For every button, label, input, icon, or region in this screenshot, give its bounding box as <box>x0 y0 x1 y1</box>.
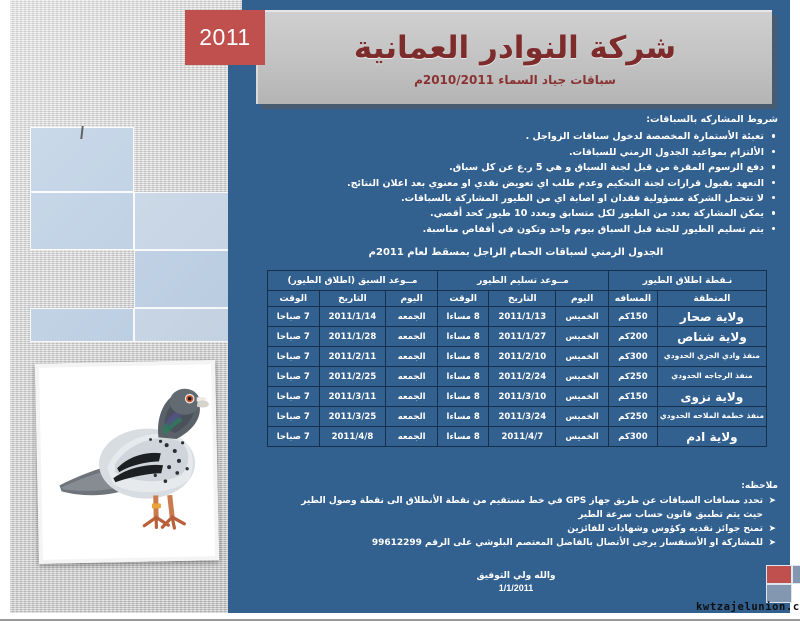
decorative-square <box>134 192 242 250</box>
table-row: منفذ الرجاجه الحدودي 250كم الخميس 2011/2… <box>268 367 767 387</box>
logo-square-red <box>766 565 792 584</box>
col-race-date: التاريخ <box>319 291 386 307</box>
cell-deliver-time: 8 مساءا <box>437 327 488 347</box>
cell-race-date: 2011/4/8 <box>319 427 386 447</box>
cell-race-time: 7 صباحا <box>268 307 320 327</box>
year-badge: 2011 <box>185 10 265 65</box>
table-row: ولاية شناص 200كم الخميس 2011/1/27 8 مساء… <box>268 327 767 347</box>
decorative-square <box>30 192 134 250</box>
cell-race-time: 7 صباحا <box>268 327 320 347</box>
cell-race-date: 2011/3/11 <box>319 387 386 407</box>
cell-region: ولاية نزوى <box>657 387 766 407</box>
cell-distance: 300كم <box>609 347 658 367</box>
conditions-heading: شروط المشاركه بالسباقات: <box>256 112 778 127</box>
cell-deliver-time: 8 مساءا <box>437 407 488 427</box>
bullet-dot-icon <box>772 150 776 154</box>
cell-race-date: 2011/1/28 <box>319 327 386 347</box>
condition-item: الألتزام بمواعيد الجدول الزمني للسباقات. <box>256 145 778 160</box>
footer-block: والله ولي التوفيق 1/1/2011 <box>242 570 790 594</box>
cell-race-day: الجمعه <box>386 407 438 427</box>
cell-deliver-time: 8 مساءا <box>437 427 488 447</box>
watermark-text: kwtzajelunion.co <box>696 601 800 613</box>
note-item: ➤تحدد مسافات السباقات عن طريق جهاز GPS ف… <box>254 495 778 509</box>
cell-deliver-day: الخميس <box>556 387 609 407</box>
cell-region: ولاية شناص <box>657 327 766 347</box>
table-row: ولاية ادم 300كم الخميس 2011/4/7 8 مساءا … <box>268 427 767 447</box>
cell-distance: 250كم <box>609 367 658 387</box>
condition-item: يمكن المشاركة بعدد من الطيور لكل متسابق … <box>256 206 778 221</box>
chevron-right-icon: ➤ <box>768 537 776 551</box>
table-row: ولاية نزوى 150كم الخميس 2011/3/10 8 مساء… <box>268 387 767 407</box>
cell-race-day: الجمعه <box>386 327 438 347</box>
cell-deliver-date: 2011/3/10 <box>489 387 556 407</box>
note-item: ➤للمشاركة او الأستفسار يرجى الأتصال بالف… <box>254 537 778 551</box>
table-head: نـقطة اطلاق الطيور مــوعد تسليم الطيور م… <box>268 271 767 307</box>
col-region: المنطقة <box>657 291 766 307</box>
chevron-right-icon: ➤ <box>768 523 776 537</box>
note-item: ➤تمنح جوائز نقديه وكؤوس وشهادات للفائزين <box>254 523 778 537</box>
table-row: ولاية صحار 150كم الخميس 2011/1/13 8 مساء… <box>268 307 767 327</box>
title-banner: شركة النوادر العمانية سباقات جياد السماء… <box>256 10 772 104</box>
col-deliver-date: التاريخ <box>489 291 556 307</box>
cell-deliver-day: الخميس <box>556 347 609 367</box>
bullet-dot-icon <box>772 165 776 169</box>
cell-deliver-date: 2011/1/13 <box>489 307 556 327</box>
cell-deliver-time: 8 مساءا <box>437 387 488 407</box>
cell-region: منفذ وادي الجزي الحدودي <box>657 347 766 367</box>
cell-deliver-date: 2011/3/24 <box>489 407 556 427</box>
footer-date: 1/1/2011 <box>242 582 790 594</box>
group-header-deliver: مــوعد تسليم الطيور <box>437 271 608 291</box>
cell-race-day: الجمعه <box>386 307 438 327</box>
cell-deliver-time: 8 مساءا <box>437 347 488 367</box>
bullet-dot-icon <box>772 227 776 231</box>
cell-deliver-time: 8 مساءا <box>437 307 488 327</box>
decorative-square <box>134 250 242 308</box>
notes-block: ملاحظه: ➤تحدد مسافات السباقات عن طريق جه… <box>254 480 778 551</box>
notes-list-2: ➤تمنح جوائز نقديه وكؤوس وشهادات للفائزين… <box>254 523 778 551</box>
chevron-right-icon: ➤ <box>768 495 776 509</box>
cell-region: منفذ الرجاجه الحدودي <box>657 367 766 387</box>
cell-region: منفذ خطمة الملاحه الحدودي <box>657 407 766 427</box>
table-sub-header-row: المنطقة المسافه اليوم التاريخ الوقت اليو… <box>268 291 767 307</box>
decorative-square <box>30 308 134 342</box>
table-row: منفذ وادي الجزي الحدودي 300كم الخميس 201… <box>268 347 767 367</box>
cell-distance: 150كم <box>609 387 658 407</box>
cell-deliver-date: 2011/2/24 <box>489 367 556 387</box>
cell-deliver-date: 2011/1/27 <box>489 327 556 347</box>
col-race-time: الوقت <box>268 291 320 307</box>
col-race-day: اليوم <box>386 291 438 307</box>
schedule-table: نـقطة اطلاق الطيور مــوعد تسليم الطيور م… <box>267 270 767 447</box>
page-subtitle: سباقات جياد السماء 2010/2011م <box>414 73 616 87</box>
page-title: شركة النوادر العمانية <box>354 31 676 65</box>
cell-race-date: 2011/1/14 <box>319 307 386 327</box>
col-distance: المسافه <box>609 291 658 307</box>
cell-distance: 300كم <box>609 427 658 447</box>
pigeon-photo <box>53 370 213 549</box>
slide-canvas: شروط المشاركه بالسباقات: تعبئة الأستمارة… <box>0 0 800 621</box>
bullet-dot-icon <box>772 181 776 185</box>
decorative-square <box>134 308 242 342</box>
bullet-dot-icon <box>772 196 776 200</box>
cell-race-day: الجمعه <box>386 367 438 387</box>
condition-item: دفع الرسوم المقرة من قبل لجنة السباق و ه… <box>256 160 778 175</box>
col-deliver-day: اليوم <box>556 291 609 307</box>
cell-race-day: الجمعه <box>386 427 438 447</box>
bullet-dot-icon <box>772 134 776 138</box>
schedule-caption: الجدول الزمني لسباقات الحمام الزاجل بمسق… <box>242 247 790 258</box>
cell-race-date: 2011/2/25 <box>319 367 386 387</box>
cell-deliver-day: الخميس <box>556 367 609 387</box>
cell-race-date: 2011/2/11 <box>319 347 386 367</box>
condition-item: لا تتحمل الشركة مسؤولية فقدان او اصابة ا… <box>256 191 778 206</box>
notes-heading: ملاحظه: <box>254 480 778 494</box>
schedule-table-wrapper: نـقطة اطلاق الطيور مــوعد تسليم الطيور م… <box>267 270 767 447</box>
cell-race-day: الجمعه <box>386 387 438 407</box>
conditions-block: شروط المشاركه بالسباقات: تعبئة الأستمارة… <box>256 112 778 237</box>
cell-race-time: 7 صباحا <box>268 427 320 447</box>
table-body: ولاية صحار 150كم الخميس 2011/1/13 8 مساء… <box>268 307 767 447</box>
cell-race-time: 7 صباحا <box>268 347 320 367</box>
condition-item: تعبئة الأستمارة المخصصة لدخول سباقات الز… <box>256 129 778 144</box>
cell-race-time: 7 صباحا <box>268 387 320 407</box>
cell-deliver-date: 2011/2/10 <box>489 347 556 367</box>
pigeon-photo-card <box>35 360 219 564</box>
condition-item: التعهد بقبول قرارات لجنة التحكيم وعدم طل… <box>256 176 778 191</box>
conditions-list: تعبئة الأستمارة المخصصة لدخول سباقات الز… <box>256 129 778 237</box>
cell-deliver-time: 8 مساءا <box>437 367 488 387</box>
notes-list: ➤تحدد مسافات السباقات عن طريق جهاز GPS ف… <box>254 495 778 509</box>
cell-distance: 200كم <box>609 327 658 347</box>
table-group-header-row: نـقطة اطلاق الطيور مــوعد تسليم الطيور م… <box>268 271 767 291</box>
cell-deliver-date: 2011/4/7 <box>489 427 556 447</box>
bullet-dot-icon <box>772 211 776 215</box>
cell-distance: 150كم <box>609 307 658 327</box>
cell-distance: 250كم <box>609 407 658 427</box>
group-header-launch: نـقطة اطلاق الطيور <box>609 271 767 291</box>
condition-item: يتم تسليم الطيور للجنة قبل السباق بيوم و… <box>256 222 778 237</box>
cell-region: ولاية صحار <box>657 307 766 327</box>
cell-deliver-day: الخميس <box>556 307 609 327</box>
cell-region: ولاية ادم <box>657 427 766 447</box>
footer-blessing: والله ولي التوفيق <box>242 570 790 582</box>
logo-square-grey-1 <box>792 565 800 584</box>
cell-race-date: 2011/3/25 <box>319 407 386 427</box>
cell-race-day: الجمعه <box>386 347 438 367</box>
cell-race-time: 7 صباحا <box>268 407 320 427</box>
group-header-race: مــوعد السبق (اطلاق الطيور) <box>268 271 438 291</box>
cell-deliver-day: الخميس <box>556 327 609 347</box>
note-continuation: حيث يتم تطبيق قانون حساب سرعة الطير <box>254 509 778 523</box>
cell-deliver-day: الخميس <box>556 407 609 427</box>
col-deliver-time: الوقت <box>437 291 488 307</box>
table-row: منفذ خطمة الملاحه الحدودي 250كم الخميس 2… <box>268 407 767 427</box>
cell-race-time: 7 صباحا <box>268 367 320 387</box>
cell-deliver-day: الخميس <box>556 427 609 447</box>
logo-mark <box>766 565 800 603</box>
